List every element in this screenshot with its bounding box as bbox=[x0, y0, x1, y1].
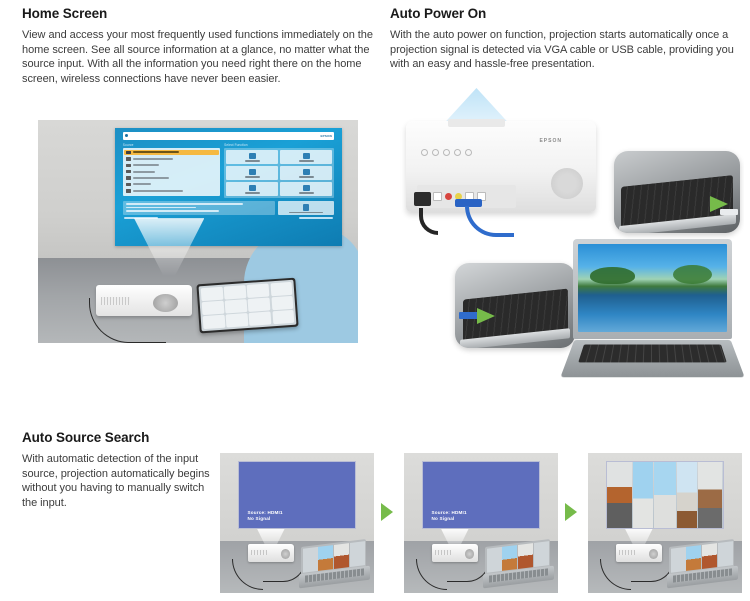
app-icon bbox=[201, 286, 224, 300]
control-button bbox=[432, 149, 439, 156]
signal-line: No Signal bbox=[248, 516, 283, 522]
menu-footer bbox=[123, 201, 334, 215]
screen-tile bbox=[487, 546, 502, 573]
function-icon bbox=[249, 153, 256, 159]
menu-icon bbox=[125, 134, 128, 137]
projector-top-cover bbox=[448, 119, 505, 127]
app-icon bbox=[249, 311, 272, 325]
source-row bbox=[124, 169, 218, 174]
screen-tile bbox=[319, 544, 334, 571]
projector-lens bbox=[465, 549, 474, 559]
inset-usb-connection bbox=[614, 151, 741, 233]
app-icon bbox=[224, 285, 247, 299]
feature-block-auto-power-on: Auto Power On With the auto power on fun… bbox=[390, 6, 742, 72]
status-line bbox=[126, 207, 196, 209]
app-icon bbox=[270, 281, 293, 295]
vga-cable bbox=[465, 206, 514, 237]
feature-body-home-screen: View and access your most frequently use… bbox=[22, 28, 374, 86]
menu-function-column: Select Function bbox=[224, 143, 334, 199]
home-screen-photo: EPSON Source bbox=[38, 120, 358, 343]
source-icon bbox=[126, 164, 131, 167]
step-arrow-icon bbox=[565, 503, 577, 521]
projector-control-buttons bbox=[421, 145, 520, 159]
laptop-device bbox=[299, 543, 370, 585]
projected-screen: Source: HDMI1 No Signal bbox=[422, 461, 539, 528]
app-icon bbox=[225, 299, 248, 313]
projected-screen-text: Source: HDMI1 No Signal bbox=[248, 510, 283, 523]
projector-vent bbox=[435, 550, 451, 555]
function-tile bbox=[280, 150, 332, 164]
qr-code-button bbox=[278, 201, 334, 215]
source-list bbox=[123, 148, 220, 196]
status-line bbox=[126, 203, 243, 205]
function-tile bbox=[226, 166, 278, 180]
function-icon bbox=[303, 153, 310, 159]
control-button bbox=[454, 149, 461, 156]
status-panel bbox=[123, 201, 275, 215]
function-icon bbox=[249, 169, 256, 175]
menu-columns: Source bbox=[120, 143, 337, 199]
screen-tile bbox=[518, 542, 533, 569]
qr-code-icon bbox=[303, 204, 309, 211]
tablet-screen bbox=[199, 279, 297, 331]
app-icon bbox=[202, 300, 225, 314]
feature-block-auto-source-search: Auto Source Search With automatic detect… bbox=[22, 430, 212, 510]
function-tile bbox=[226, 150, 278, 164]
source-icon bbox=[126, 189, 131, 192]
screen-tile bbox=[671, 546, 686, 573]
control-button bbox=[421, 149, 428, 156]
function-icon bbox=[303, 169, 310, 175]
menu-top-bar: EPSON bbox=[123, 132, 334, 140]
projector-speaker bbox=[551, 168, 583, 199]
function-grid bbox=[224, 148, 334, 198]
source-row bbox=[124, 182, 218, 187]
source-row bbox=[124, 163, 218, 168]
epson-logo: EPSON bbox=[539, 138, 562, 144]
screen-tile bbox=[687, 544, 702, 571]
app-icon bbox=[203, 315, 226, 329]
epson-logo: EPSON bbox=[320, 134, 332, 138]
projected-screen: Source: HDMI1 No Signal bbox=[238, 461, 355, 528]
source-search-panel bbox=[588, 453, 742, 593]
step-arrow-icon bbox=[381, 503, 393, 521]
auto-power-on-photo: EPSON bbox=[392, 88, 744, 390]
laptop-device bbox=[568, 239, 737, 378]
signal-line: No Signal bbox=[432, 516, 467, 522]
control-button bbox=[443, 149, 450, 156]
pointer-arrow-icon bbox=[477, 308, 495, 324]
laptop-lid bbox=[573, 239, 732, 339]
screen-tile bbox=[334, 542, 349, 569]
laptop-keyboard bbox=[578, 345, 727, 364]
rca-port-red bbox=[445, 193, 452, 200]
function-label bbox=[245, 160, 260, 162]
image-tile bbox=[677, 462, 697, 527]
inset-vga-connection bbox=[455, 263, 575, 348]
function-label bbox=[245, 176, 260, 178]
tablet-device bbox=[196, 277, 298, 333]
image-tile bbox=[633, 462, 653, 527]
function-label bbox=[299, 176, 314, 178]
source-search-panel: Source: HDMI1 No Signal bbox=[404, 453, 558, 593]
hint-right bbox=[299, 217, 333, 219]
laptop-device bbox=[667, 543, 738, 585]
projector-vent bbox=[251, 550, 267, 555]
function-label bbox=[299, 192, 314, 194]
source-row bbox=[124, 150, 218, 155]
screen-tile bbox=[702, 542, 717, 569]
function-icon bbox=[303, 185, 310, 191]
feature-body-auto-source-search: With automatic detection of the input so… bbox=[22, 452, 212, 510]
app-icon bbox=[226, 313, 249, 327]
laptop-screen bbox=[578, 244, 727, 332]
feature-body-auto-power-on: With the auto power on function, project… bbox=[390, 28, 742, 72]
function-icon bbox=[249, 185, 256, 191]
screen-tile bbox=[718, 540, 733, 567]
source-icon bbox=[126, 170, 131, 173]
source-label bbox=[133, 190, 183, 192]
projector-vent bbox=[619, 550, 635, 555]
power-connector bbox=[414, 192, 431, 206]
source-icon bbox=[126, 151, 131, 154]
source-icon bbox=[126, 157, 131, 160]
source-search-panel: Source: HDMI1 No Signal bbox=[220, 453, 374, 593]
feature-page: Home Screen View and access your most fr… bbox=[0, 0, 750, 601]
laptop-base bbox=[561, 340, 744, 377]
source-row bbox=[124, 175, 218, 180]
image-tile bbox=[698, 462, 722, 527]
source-label bbox=[133, 158, 173, 160]
source-label bbox=[133, 164, 159, 166]
source-list-label: Source bbox=[123, 143, 220, 147]
feature-title-auto-source-search: Auto Source Search bbox=[22, 430, 212, 446]
function-tile bbox=[280, 166, 332, 180]
source-label bbox=[133, 183, 151, 185]
app-icon bbox=[248, 297, 271, 311]
source-icon bbox=[126, 183, 131, 186]
qr-code-label bbox=[289, 212, 323, 214]
projector-lens bbox=[649, 549, 658, 559]
usb-port bbox=[433, 192, 442, 201]
projector-lens bbox=[281, 549, 290, 559]
function-label bbox=[245, 192, 260, 194]
image-tile bbox=[607, 462, 631, 527]
projected-image-content bbox=[607, 462, 722, 527]
screen-tile bbox=[303, 546, 318, 573]
menu-source-column: Source bbox=[123, 143, 220, 199]
source-label bbox=[133, 177, 169, 179]
vga-plug bbox=[459, 312, 478, 319]
function-label bbox=[299, 160, 314, 162]
function-tile bbox=[280, 182, 332, 196]
pointer-arrow-icon bbox=[710, 196, 728, 212]
status-line bbox=[126, 210, 220, 212]
screen-tile bbox=[503, 544, 518, 571]
screen-tile bbox=[350, 540, 365, 567]
feature-block-home-screen: Home Screen View and access your most fr… bbox=[22, 6, 374, 86]
source-icon bbox=[126, 176, 131, 179]
feature-title-auto-power-on: Auto Power On bbox=[390, 6, 742, 22]
feature-title-home-screen: Home Screen bbox=[22, 6, 374, 22]
app-icon bbox=[247, 283, 270, 297]
projector-rear-panel: EPSON bbox=[406, 121, 596, 212]
source-label bbox=[133, 151, 179, 153]
source-label bbox=[133, 171, 155, 173]
image-tile bbox=[654, 462, 676, 527]
app-icon bbox=[271, 296, 294, 310]
laptop-device bbox=[483, 543, 554, 585]
projected-screen-text: Source: HDMI1 No Signal bbox=[432, 510, 467, 523]
power-cable bbox=[419, 208, 438, 235]
projected-screen bbox=[606, 461, 723, 528]
control-button bbox=[465, 149, 472, 156]
app-icon bbox=[272, 310, 295, 324]
functions-label: Select Function bbox=[224, 143, 334, 147]
screen-tile bbox=[534, 540, 549, 567]
source-row bbox=[124, 156, 218, 161]
source-row bbox=[124, 188, 218, 193]
function-tile bbox=[226, 182, 278, 196]
